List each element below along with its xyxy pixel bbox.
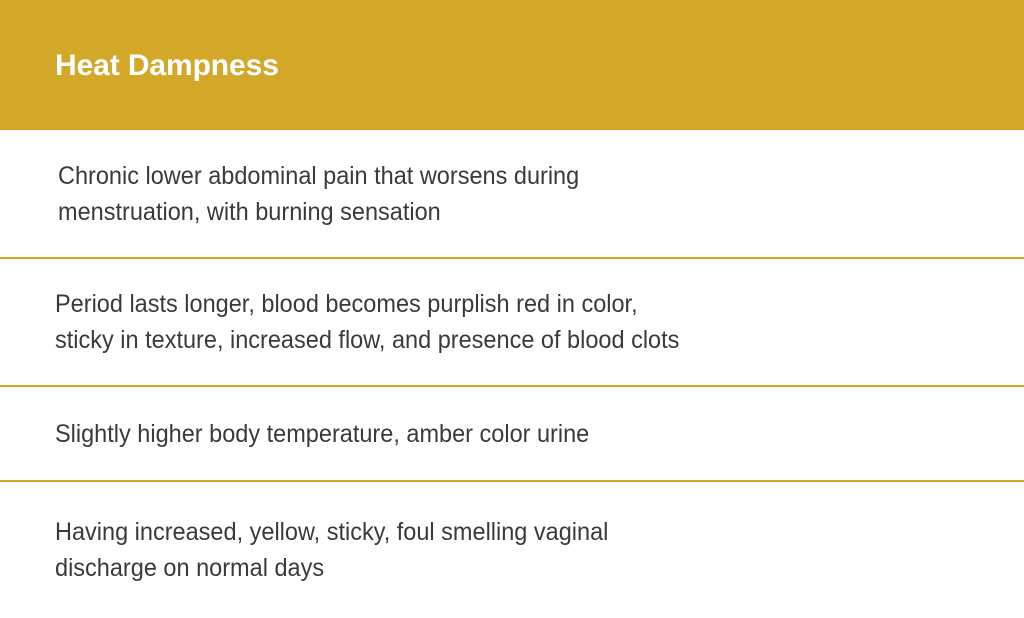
symptom-list: Chronic lower abdominal pain that worsen…: [0, 130, 1024, 618]
list-item-text: Slightly higher body temperature, amber …: [55, 416, 589, 452]
list-item: Chronic lower abdominal pain that worsen…: [0, 130, 1024, 257]
heat-dampness-card: Heat Dampness Chronic lower abdominal pa…: [0, 0, 1024, 618]
card-header: Heat Dampness: [0, 0, 1024, 130]
list-item: Having increased, yellow, sticky, foul s…: [0, 480, 1024, 618]
page-title: Heat Dampness: [55, 49, 279, 82]
list-item: Period lasts longer, blood becomes purpl…: [0, 257, 1024, 385]
list-item-text: Period lasts longer, blood becomes purpl…: [55, 286, 679, 358]
list-item: Slightly higher body temperature, amber …: [0, 385, 1024, 480]
list-item-text: Having increased, yellow, sticky, foul s…: [55, 514, 608, 586]
list-item-text: Chronic lower abdominal pain that worsen…: [58, 158, 579, 230]
